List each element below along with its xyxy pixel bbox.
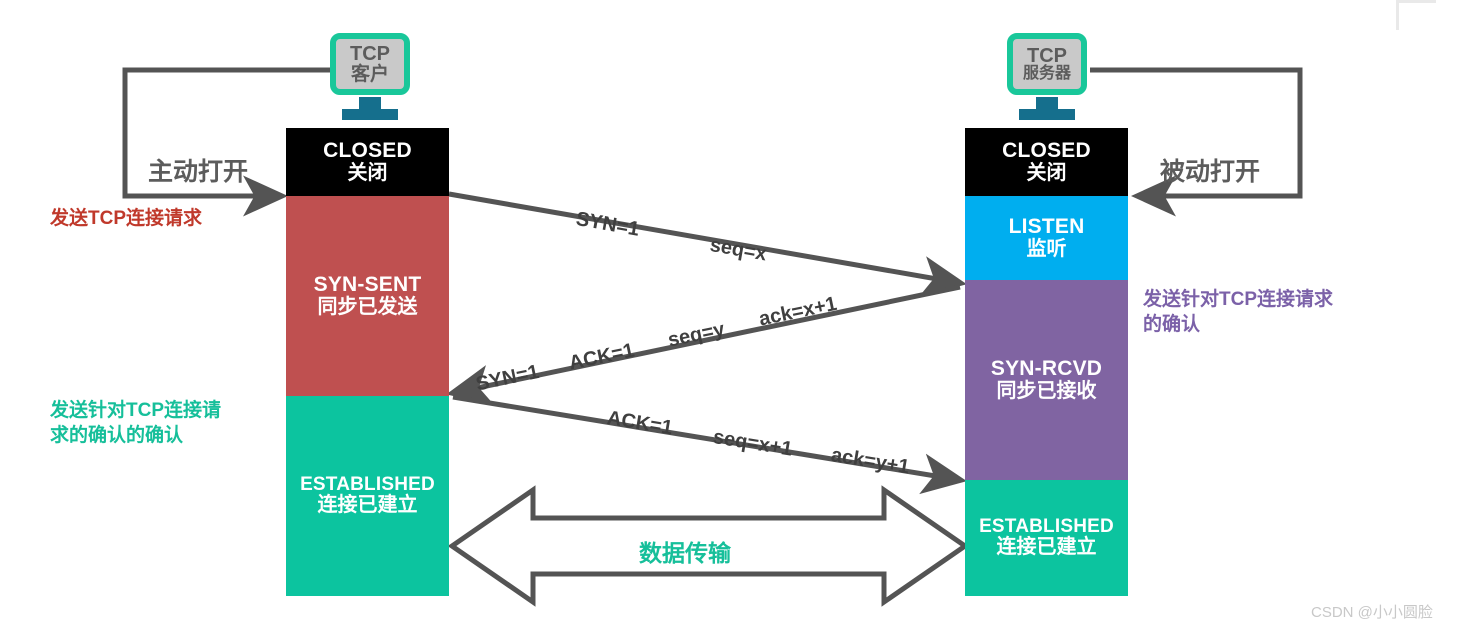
- server-state-bar: CLOSED 关闭 LISTEN 监听 SYN-RCVD 同步已接收 ESTAB…: [965, 128, 1128, 596]
- server-state-syn-rcvd-cn: 同步已接收: [997, 381, 1097, 403]
- server-device-line2: 服务器: [1023, 66, 1071, 82]
- client-state-bar: CLOSED 关闭 SYN-SENT 同步已发送 ESTABLISHED 连接已…: [286, 128, 449, 596]
- client-active-open-label: 主动打开: [148, 152, 248, 188]
- client-state-established: ESTABLISHED 连接已建立: [286, 396, 449, 596]
- server-monitor-neck: [1036, 97, 1058, 109]
- client-state-syn-sent: SYN-SENT 同步已发送: [286, 196, 449, 396]
- watermark-text: CSDN @小小圆脸: [1311, 601, 1433, 622]
- client-note-ack-of-ack-line2: 求的确认的确认: [50, 424, 280, 449]
- data-transfer-label: 数据传输: [639, 534, 731, 568]
- server-note-ack-request-line2: 的确认: [1143, 313, 1443, 338]
- server-state-listen-cn: 监听: [1027, 239, 1067, 261]
- client-device-line1: TCP: [350, 44, 390, 64]
- server-note-ack-request: 发送针对TCP连接请求 的确认: [1143, 288, 1443, 337]
- server-state-closed-en: CLOSED: [1002, 140, 1091, 163]
- client-device-line2: 客户: [351, 65, 389, 84]
- server-device-line1: TCP: [1027, 46, 1067, 66]
- corner-tick-top-right-h: [1396, 0, 1436, 3]
- server-state-listen: LISTEN 监听: [965, 196, 1128, 280]
- message-arrow-seg1: [449, 194, 960, 283]
- client-note-ack-of-ack: 发送针对TCP连接请 求的确认的确认: [50, 399, 280, 448]
- server-note-ack-request-line1: 发送针对TCP连接请求: [1143, 288, 1443, 313]
- client-device-screen: TCP 客户: [330, 33, 410, 95]
- client-device-icon: TCP 客户: [330, 33, 410, 120]
- server-state-closed: CLOSED 关闭: [965, 128, 1128, 196]
- diagram-canvas: TCP 客户 TCP 服务器 CLOSED 关闭 SYN-SENT 同步已发送 …: [0, 0, 1461, 629]
- server-state-established: ESTABLISHED 连接已建立: [965, 480, 1128, 596]
- client-note-send-request: 发送TCP连接请求: [50, 207, 202, 232]
- server-passive-open-label: 被动打开: [1160, 152, 1260, 188]
- client-state-closed-en: CLOSED: [323, 140, 412, 163]
- server-state-closed-cn: 关闭: [1027, 163, 1067, 185]
- corner-tick-top-right: [1396, 0, 1399, 30]
- server-state-established-cn: 连接已建立: [997, 537, 1097, 559]
- server-device-icon: TCP 服务器: [1007, 33, 1087, 120]
- client-monitor-base: [342, 109, 398, 120]
- client-monitor-neck: [359, 97, 381, 109]
- server-state-established-en: ESTABLISHED: [979, 517, 1114, 538]
- server-monitor-base: [1019, 109, 1075, 120]
- server-device-screen: TCP 服务器: [1007, 33, 1087, 95]
- client-state-syn-sent-en: SYN-SENT: [314, 274, 422, 297]
- client-state-closed: CLOSED 关闭: [286, 128, 449, 196]
- client-state-established-cn: 连接已建立: [318, 495, 418, 517]
- server-state-syn-rcvd: SYN-RCVD 同步已接收: [965, 280, 1128, 480]
- client-state-syn-sent-cn: 同步已发送: [318, 297, 418, 319]
- client-state-established-en: ESTABLISHED: [300, 475, 435, 496]
- server-state-listen-en: LISTEN: [1009, 216, 1085, 239]
- server-state-syn-rcvd-en: SYN-RCVD: [991, 358, 1102, 381]
- client-state-closed-cn: 关闭: [348, 163, 388, 185]
- client-note-ack-of-ack-line1: 发送针对TCP连接请: [50, 399, 280, 424]
